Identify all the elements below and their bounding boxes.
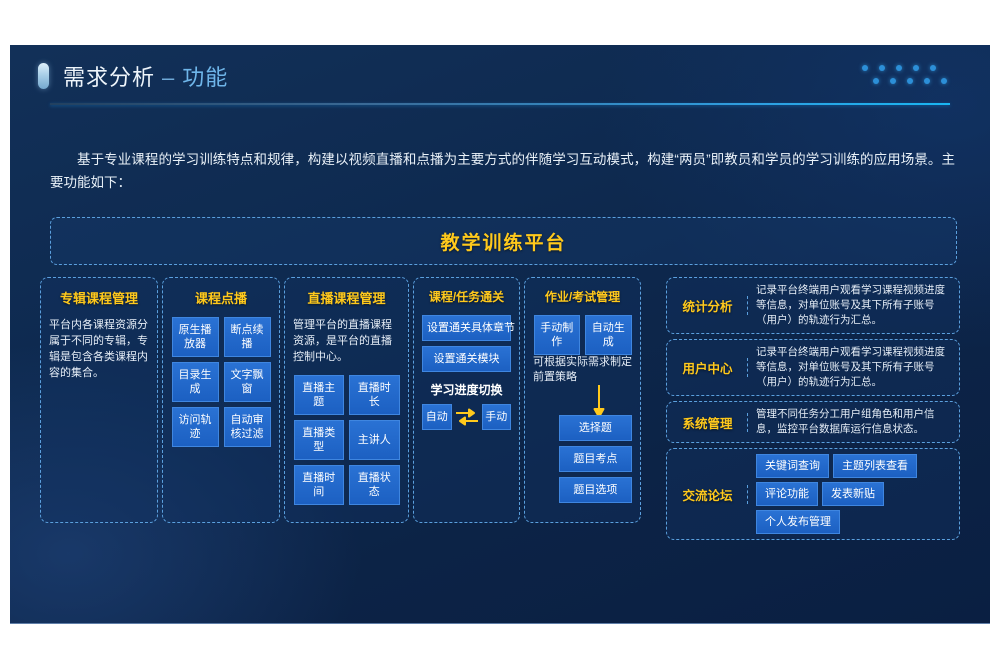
- dot: [890, 78, 896, 84]
- module-label: 交流论坛: [674, 485, 748, 504]
- column-title: 直播课程管理: [307, 288, 385, 307]
- dot-row-top: [862, 65, 958, 71]
- dot: [913, 65, 919, 71]
- chip-item-manual-create[interactable]: 手动制作: [534, 315, 581, 355]
- column-album-course-management[interactable]: 专辑课程管理 平台内各课程资源分属于不同的专辑，专辑是包含各类课程内容的集合。: [40, 277, 158, 523]
- strategy-note: 可根据实际需求制定前置策略: [533, 355, 632, 385]
- column-description: 管理平台的直播课程资源，是平台的直播控制中心。: [293, 317, 400, 365]
- chip-item[interactable]: 关键词查询: [756, 454, 829, 478]
- module-row-system-management[interactable]: 系统管理 管理不同任务分工用户组角色和用户信息，监控平台数据库运行信息状态。: [666, 401, 960, 443]
- module-row-user-center[interactable]: 用户中心 记录平台终端用户观看学习课程视频进度等信息，对单位账号及其下所有子账号…: [666, 339, 960, 396]
- chip-item[interactable]: 直播主题: [294, 375, 345, 415]
- chip-item[interactable]: 直播类型: [294, 420, 345, 460]
- chip-item[interactable]: 断点续播: [224, 317, 271, 357]
- feature-columns: 专辑课程管理 平台内各课程资源分属于不同的专辑，专辑是包含各类课程内容的集合。 …: [40, 277, 660, 523]
- page-title-separator: –: [162, 65, 175, 90]
- chip-item[interactable]: 评论功能: [756, 482, 818, 506]
- chip-item[interactable]: 题目选项: [559, 477, 632, 503]
- dot: [862, 65, 868, 71]
- intro-paragraph: 基于专业课程的学习训练特点和规律，构建以视频直播和点播为主要方式的伴随学习互动模…: [50, 148, 955, 194]
- column-chip-group: 直播主题 直播时长 直播类型 主讲人 直播时间 直播状态: [293, 375, 400, 505]
- column-title: 课程点播: [195, 288, 247, 307]
- bidirectional-arrow-icon: [454, 404, 480, 430]
- module-description: 记录平台终端用户观看学习课程视频进度等信息，对单位账号及其下所有子账号（用户）的…: [748, 345, 952, 390]
- down-arrow-icon: [533, 385, 632, 419]
- dot: [879, 65, 885, 71]
- module-label: 系统管理: [674, 413, 748, 432]
- progress-switch-row: 自动 手动: [422, 404, 511, 430]
- chip-item-auto[interactable]: 自动: [422, 404, 452, 430]
- page-title: 需求分析–功能: [63, 60, 228, 92]
- module-label: 统计分析: [674, 296, 748, 315]
- chip-item[interactable]: 主题列表查看: [833, 454, 917, 478]
- right-module-panel: 统计分析 记录平台终端用户观看学习课程视频进度等信息，对单位账号及其下所有子账号…: [666, 277, 960, 523]
- platform-title: 教学训练平台: [440, 228, 566, 255]
- chip-item[interactable]: 题目考点: [559, 446, 632, 472]
- chip-item[interactable]: 设置通关模块: [422, 346, 511, 372]
- chip-item[interactable]: 选择题: [559, 415, 632, 441]
- column-chip-group-flow: 选择题 题目考点 题目选项: [559, 415, 632, 503]
- platform-banner: 教学训练平台: [50, 217, 957, 265]
- progress-switch-label: 学习进度切换: [430, 381, 502, 398]
- dot: [924, 78, 930, 84]
- module-row-forum[interactable]: 交流论坛 关键词查询 主题列表查看 评论功能 发表新贴 个人发布管理: [666, 448, 960, 540]
- chip-item[interactable]: 主讲人: [349, 420, 400, 460]
- column-chip-group: 原生播放器 断点续播 目录生成 文字飘窗 访问轨迹 自动审核过滤: [171, 317, 271, 447]
- header-dots-decoration: [862, 65, 958, 91]
- dot: [896, 65, 902, 71]
- chip-item[interactable]: 直播状态: [349, 465, 400, 505]
- chip-item-manual[interactable]: 手动: [482, 404, 512, 430]
- chip-item[interactable]: 目录生成: [172, 362, 219, 402]
- column-title: 作业/考试管理: [545, 288, 620, 305]
- dot: [907, 78, 913, 84]
- page-title-sub: 功能: [182, 65, 228, 90]
- module-description: 记录平台终端用户观看学习课程视频进度等信息，对单位账号及其下所有子账号（用户）的…: [748, 283, 952, 328]
- chip-item[interactable]: 原生播放器: [172, 317, 219, 357]
- column-chip-group: 设置通关具体章节 设置通关模块: [422, 315, 511, 372]
- column-description: 平台内各课程资源分属于不同的专辑，专辑是包含各类课程内容的集合。: [49, 317, 149, 381]
- dot: [941, 78, 947, 84]
- column-course-on-demand[interactable]: 课程点播 原生播放器 断点续播 目录生成 文字飘窗 访问轨迹 自动审核过滤: [162, 277, 280, 523]
- column-title: 专辑课程管理: [60, 288, 138, 307]
- module-description: 管理不同任务分工用户组角色和用户信息，监控平台数据库运行信息状态。: [748, 407, 952, 437]
- chip-item[interactable]: 直播时长: [349, 375, 400, 415]
- header-pill-icon: [38, 63, 49, 89]
- column-chip-group-top: 手动制作 自动生成: [533, 315, 632, 355]
- chip-item[interactable]: 设置通关具体章节: [422, 315, 511, 341]
- chip-item[interactable]: 文字飘窗: [224, 362, 271, 402]
- module-row-statistics[interactable]: 统计分析 记录平台终端用户观看学习课程视频进度等信息，对单位账号及其下所有子账号…: [666, 277, 960, 334]
- column-live-course-management[interactable]: 直播课程管理 管理平台的直播课程资源，是平台的直播控制中心。 直播主题 直播时长…: [284, 277, 409, 523]
- module-chip-group: 关键词查询 主题列表查看 评论功能 发表新贴 个人发布管理: [748, 454, 952, 534]
- module-label: 用户中心: [674, 358, 748, 377]
- dot: [873, 78, 879, 84]
- chip-item[interactable]: 个人发布管理: [756, 510, 840, 534]
- slide-canvas: 需求分析–功能 基于专业课程的学习训练特点和规律，构建以视频直播和点播为主要方式…: [10, 45, 990, 624]
- slide-header: 需求分析–功能: [38, 60, 228, 92]
- column-title: 课程/任务通关: [429, 288, 504, 305]
- chip-item-auto-generate[interactable]: 自动生成: [585, 315, 632, 355]
- dot-row-bottom: [873, 78, 958, 84]
- chip-item[interactable]: 直播时间: [294, 465, 345, 505]
- column-homework-exam-management[interactable]: 作业/考试管理 手动制作 自动生成 可根据实际需求制定前置策略 选择题 题目考点…: [524, 277, 641, 523]
- chip-item[interactable]: 发表新贴: [822, 482, 884, 506]
- column-course-task-clearance[interactable]: 课程/任务通关 设置通关具体章节 设置通关模块 学习进度切换 自动 手动: [413, 277, 520, 523]
- strategy-note-row: 可根据实际需求制定前置策略: [533, 355, 632, 385]
- page-title-main: 需求分析: [63, 65, 155, 90]
- chip-item[interactable]: 访问轨迹: [172, 407, 219, 447]
- header-underline: [50, 103, 950, 105]
- chip-item[interactable]: 自动审核过滤: [224, 407, 271, 447]
- dot: [930, 65, 936, 71]
